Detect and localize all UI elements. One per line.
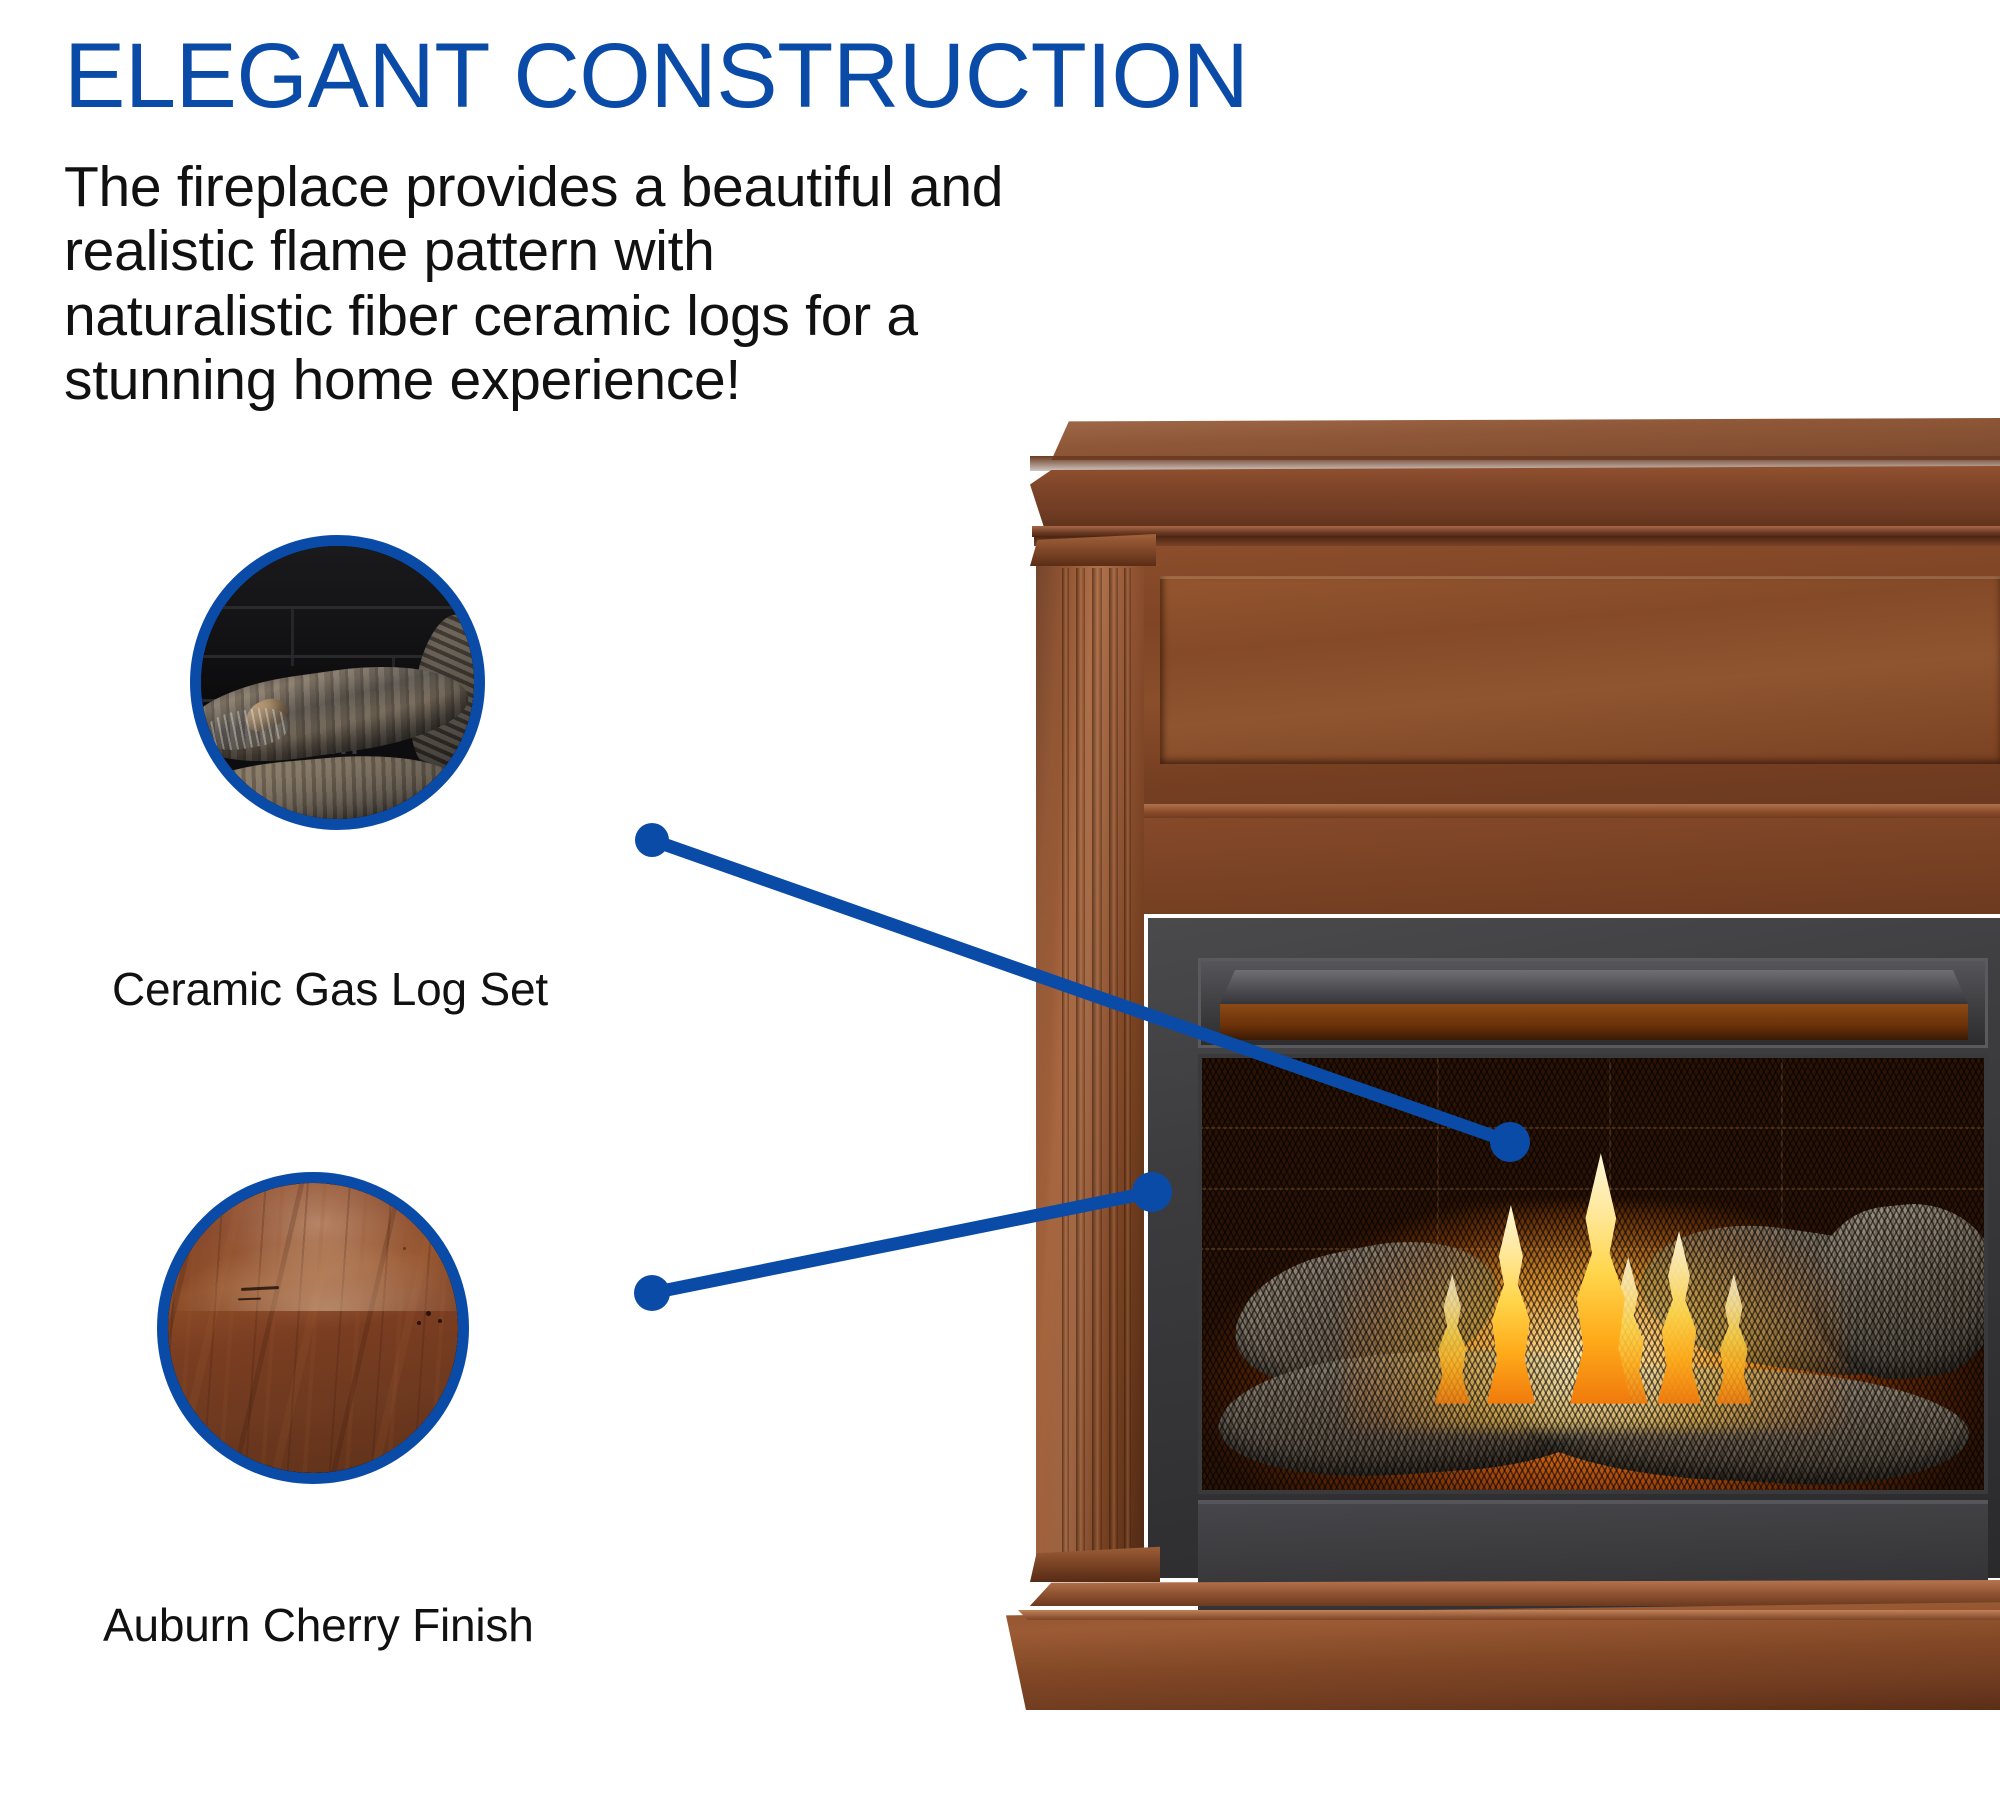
page-title: ELEGANT CONSTRUCTION	[64, 30, 1248, 122]
callout-label-ceramic-gas-log-set: Ceramic Gas Log Set	[112, 962, 548, 1016]
description-paragraph: The fireplace provides a beautiful and r…	[64, 155, 1004, 413]
description-line-1: The fireplace provides a beautiful and	[64, 155, 1004, 219]
mantel-top-surface	[1038, 418, 2000, 460]
connector-dot-cherry-origin	[634, 1275, 670, 1311]
firebox-hood-bar	[1220, 970, 1968, 1004]
mantel-lower-band	[1118, 818, 2000, 914]
pilaster-flute-groove	[1076, 568, 1085, 1552]
connector-dot-logs-origin	[635, 823, 669, 857]
mantel-panel-inset	[1160, 576, 2000, 764]
callout-label-auburn-cherry-finish: Auburn Cherry Finish	[103, 1598, 534, 1652]
fireplace-product-image	[1022, 418, 2000, 1708]
description-line-3: naturalistic fiber ceramic logs for a	[64, 284, 1004, 348]
firebox-hood-glow	[1220, 1004, 1968, 1040]
auburn-cherry-photo	[168, 1183, 458, 1473]
callout-image-circle-cherry	[157, 1172, 469, 1484]
hearth-plinth-top	[1022, 1580, 2000, 1606]
mantel-crown-shadow	[1034, 536, 2000, 546]
wood-highlight-sheen	[168, 1183, 458, 1311]
firebox-mesh-window	[1198, 1054, 1988, 1494]
infographic-canvas: ELEGANT CONSTRUCTION The fireplace provi…	[0, 0, 2000, 1800]
callout-image-circle-logs	[190, 535, 485, 830]
pilaster-flute-groove	[1092, 568, 1102, 1552]
hearth-plinth-bead	[1008, 1610, 2000, 1620]
description-line-2: realistic flame pattern with	[64, 219, 1004, 283]
pilaster-flute-groove	[1124, 568, 1131, 1552]
description-line-4: stunning home experience!	[64, 348, 1004, 412]
mantel-crown-molding	[1030, 466, 2000, 532]
ceramic-log-photo	[201, 546, 474, 819]
pilaster-flute-groove	[1062, 568, 1069, 1552]
pilaster-flute-groove	[1109, 568, 1118, 1552]
